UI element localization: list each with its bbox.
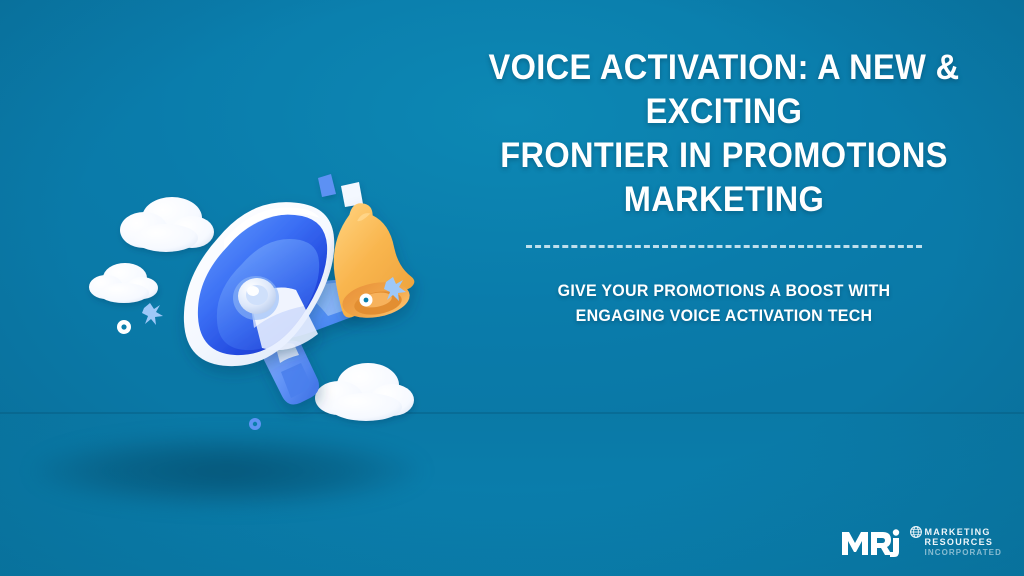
subtitle: GIVE YOUR PROMOTIONS A BOOST WITH ENGAGI… (463, 278, 986, 328)
dashed-divider (526, 245, 922, 248)
subtitle-line-2: ENGAGING VOICE ACTIVATION TECH (463, 303, 986, 328)
confetti-white (341, 182, 363, 207)
logo-wordmark-text: Marketing Resources Incorporated (925, 526, 1003, 559)
cloud-left-upper (120, 197, 214, 252)
cloud-left-lower (89, 263, 158, 303)
page-title: VOICE ACTIVATION: A NEW & EXCITING FRONT… (465, 46, 982, 222)
megaphone-knob (233, 276, 279, 320)
megaphone-illustration (100, 160, 440, 450)
globe-icon (910, 526, 922, 538)
headline-line-2: FRONTIER IN PROMOTIONS MARKETING (465, 134, 982, 222)
confetti-blue (318, 174, 336, 197)
headline-line-1: VOICE ACTIVATION: A NEW & EXCITING (465, 46, 982, 134)
promo-banner: VOICE ACTIVATION: A NEW & EXCITING FRONT… (0, 0, 1024, 576)
mri-logo: Marketing Resources Incorporated (841, 526, 1003, 559)
notification-bell (327, 199, 417, 323)
logo-word-incorporated: Incorporated (925, 548, 1003, 559)
logo-word-resources: Resources (925, 537, 1003, 548)
subtitle-line-1: GIVE YOUR PROMOTIONS A BOOST WITH (463, 278, 986, 303)
cloud-right-lower (315, 363, 414, 421)
copy-block: VOICE ACTIVATION: A NEW & EXCITING FRONT… (446, 46, 1002, 328)
mri-wordmark-icon (841, 527, 903, 557)
logo-word-marketing: Marketing (925, 527, 1003, 538)
